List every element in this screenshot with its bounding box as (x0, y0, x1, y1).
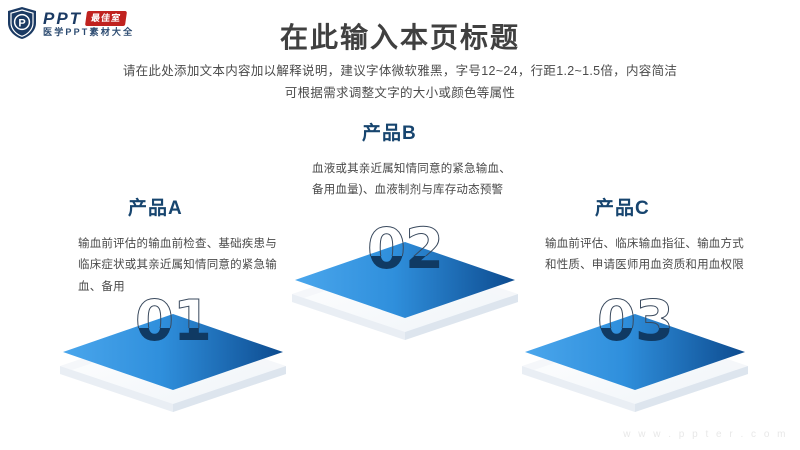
platform-02-number-solid-inner: 02 (290, 256, 520, 278)
platform-01-number-solid-wrap: 01 (58, 328, 288, 398)
footer-watermark: w w w . p p t e r . c o m (623, 429, 788, 440)
platform-02-number-solid-wrap: 02 (290, 256, 520, 326)
platform-01-number: 01 (135, 328, 211, 354)
product-c-title: 产品C (545, 193, 750, 220)
subtitle-line-1: 请在此处添加文本内容加以解释说明，建议字体微软雅黑，字号12~24，行距1.2~… (0, 61, 800, 83)
platform-01-number-outline: 01 (58, 280, 288, 328)
slide-canvas: P PPT 最佳室 医学PPT素材大全 在此输入本页标题 请在此处添加文本内容加… (0, 0, 800, 450)
platform-03[interactable]: 03 03 (520, 280, 750, 430)
product-column-c[interactable]: 产品C 输血前评估、临床输血指征、输血方式和性质、申请医师用血资质和用血权限 (545, 193, 750, 277)
platform-02[interactable]: 02 02 (290, 208, 520, 358)
product-b-title: 产品B (312, 118, 512, 145)
platform-03-number-solid-inner: 03 (520, 328, 750, 350)
subtitle-line-2: 可根据需求调整文字的大小或颜色等属性 (0, 83, 800, 105)
platform-01-number-ghost: 01 (58, 294, 288, 328)
platform-02-number: 02 (367, 256, 443, 282)
platform-03-number-outline: 03 (520, 280, 750, 328)
platform-02-number-outline: 02 (290, 208, 520, 256)
platform-01-number-solid-inner: 01 (58, 328, 288, 350)
product-a-title: 产品A (78, 193, 283, 220)
platform-01[interactable]: 01 01 (58, 280, 288, 430)
page-title: 在此输入本页标题 (0, 16, 800, 56)
product-b-body: 血液或其亲近属知情同意的紧急输血、备用血量)、血液制剂与库存动态预警 (312, 159, 512, 202)
product-c-body: 输血前评估、临床输血指征、输血方式和性质、申请医师用血资质和用血权限 (545, 234, 750, 277)
platform-03-number-solid-wrap: 03 (520, 328, 750, 398)
platform-03-number-ghost: 03 (520, 294, 750, 328)
page-subtitle: 请在此处添加文本内容加以解释说明，建议字体微软雅黑，字号12~24，行距1.2~… (0, 61, 800, 105)
platform-03-number: 03 (597, 328, 673, 354)
platform-02-number-ghost: 02 (290, 222, 520, 256)
product-column-b[interactable]: 产品B 血液或其亲近属知情同意的紧急输血、备用血量)、血液制剂与库存动态预警 (312, 118, 512, 202)
